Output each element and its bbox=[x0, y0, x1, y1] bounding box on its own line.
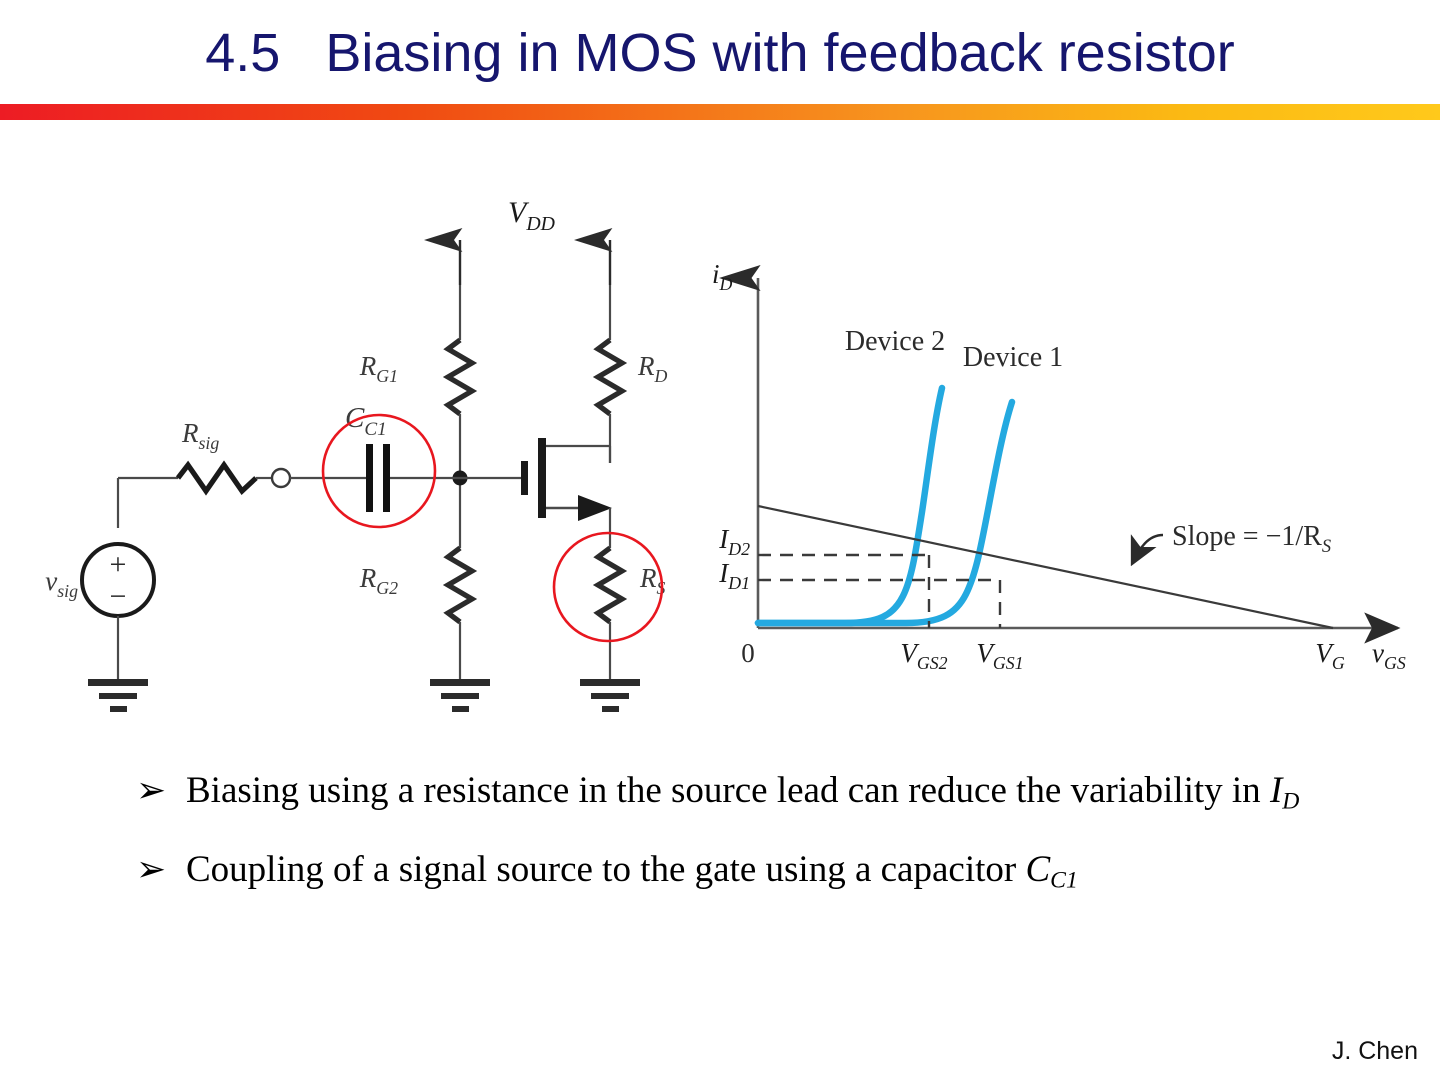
bullet-variable-subscript: D bbox=[1282, 789, 1299, 815]
bullet-variable-subscript: C1 bbox=[1050, 868, 1078, 894]
curve-label-device-2: Device 2 bbox=[845, 326, 945, 357]
chart-x-axis-label: vGS bbox=[1372, 638, 1406, 673]
circuit-schematic: VDD RG1 RG2 RD bbox=[45, 196, 667, 712]
bullet-variable-symbol: I bbox=[1270, 770, 1282, 811]
open-terminal-node bbox=[272, 469, 290, 487]
curve-device-2 bbox=[758, 388, 942, 623]
mosfet-gate-plate bbox=[521, 461, 528, 495]
label-vdd: VDD bbox=[508, 196, 555, 235]
resistor-rg2 bbox=[448, 548, 472, 622]
chart-y-axis-label: iD bbox=[712, 259, 733, 294]
bullet-marker-icon: ➢ bbox=[136, 766, 166, 816]
list-item: ➢ Coupling of a signal source to the gat… bbox=[128, 844, 1398, 897]
resistor-rs bbox=[598, 548, 622, 622]
chart-origin-label: 0 bbox=[741, 638, 755, 668]
slope-annotation-arrow bbox=[1133, 535, 1163, 562]
bullet-variable: CC1 bbox=[1025, 849, 1077, 890]
label-rsig: Rsig bbox=[181, 418, 219, 453]
source-plus-sign: + bbox=[110, 548, 127, 581]
chart-x-tick-vg: VG bbox=[1315, 638, 1345, 673]
curve-device-1 bbox=[758, 402, 1012, 623]
label-vsig: vsig bbox=[45, 566, 78, 601]
bullet-text: Coupling of a signal source to the gate … bbox=[186, 849, 1078, 890]
ground-symbol-rg2 bbox=[430, 679, 490, 712]
label-rg2: RG2 bbox=[359, 563, 398, 598]
bullet-text: Biasing using a resistance in the source… bbox=[186, 770, 1299, 811]
mosfet-source-arrow bbox=[578, 495, 612, 521]
chart-y-tick-id2: ID2 bbox=[718, 524, 750, 559]
chart-x-tick-vgs2: VGS2 bbox=[900, 638, 947, 673]
figure-container: VDD RG1 RG2 RD bbox=[0, 150, 1440, 750]
ground-symbol-vsig bbox=[88, 679, 148, 712]
resistor-rsig bbox=[178, 465, 256, 491]
label-rd: RD bbox=[637, 351, 668, 386]
title-bar: 4.5 Biasing in MOS with feedback resisto… bbox=[0, 0, 1440, 112]
label-rg1: RG1 bbox=[359, 351, 398, 386]
resistor-rd bbox=[598, 340, 622, 414]
resistor-rg1 bbox=[448, 340, 472, 414]
source-minus-sign: − bbox=[110, 580, 127, 613]
bullet-list: ➢ Biasing using a resistance in the sour… bbox=[128, 765, 1398, 898]
page-title: 4.5 Biasing in MOS with feedback resisto… bbox=[0, 22, 1440, 84]
chart-y-tick-id1: ID1 bbox=[718, 558, 750, 593]
bullet-marker-icon: ➢ bbox=[136, 845, 166, 895]
capacitor-cc1 bbox=[366, 444, 390, 512]
bullet-variable: ID bbox=[1270, 770, 1299, 811]
footer-author: J. Chen bbox=[1332, 1037, 1418, 1066]
chart-x-tick-vgs1: VGS1 bbox=[976, 638, 1023, 673]
transfer-characteristic-chart: iD vGS 0 Device 2 Device 1 Slope = −1/RS… bbox=[712, 259, 1406, 673]
curve-label-device-1: Device 1 bbox=[963, 342, 1063, 373]
bullet-lead-text: Coupling of a signal source to the gate … bbox=[186, 849, 1025, 890]
slope-annotation-label: Slope = −1/RS bbox=[1172, 521, 1331, 556]
list-item: ➢ Biasing using a resistance in the sour… bbox=[128, 765, 1398, 818]
bullet-lead-text: Biasing using a resistance in the source… bbox=[186, 770, 1270, 811]
mosfet-channel-bar bbox=[538, 438, 546, 518]
mosfet-symbol bbox=[460, 438, 612, 548]
ground-symbol-rs bbox=[580, 679, 640, 712]
title-divider-gradient-bar bbox=[0, 104, 1440, 120]
bullet-variable-symbol: C bbox=[1025, 849, 1050, 890]
